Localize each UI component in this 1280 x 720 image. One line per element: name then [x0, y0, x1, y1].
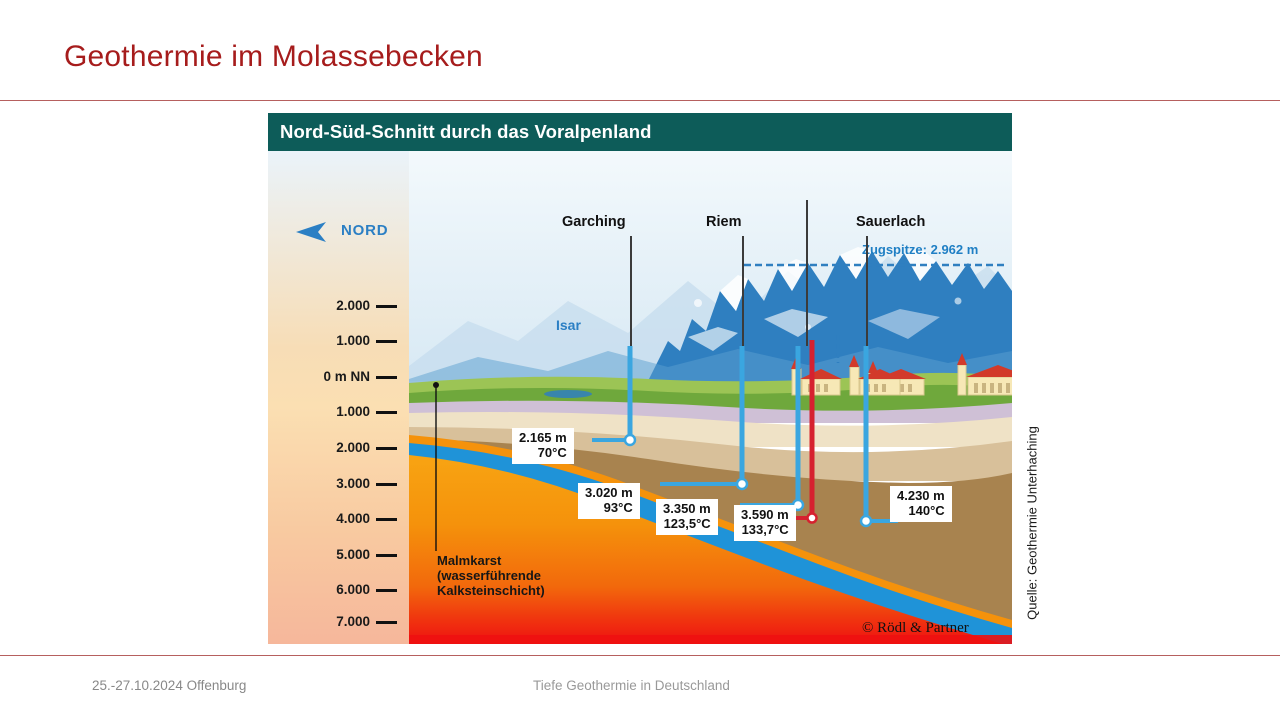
footer-divider	[0, 655, 1280, 656]
copyright-notice: © Rödl & Partner	[862, 620, 969, 637]
scale-label-7000: 7.000	[296, 614, 370, 629]
callout-depth-garching: 2.165 m	[519, 431, 567, 446]
scale-dash-9	[376, 621, 397, 624]
scale-label-4000: 4.000	[296, 511, 370, 526]
scale-dash-5	[376, 483, 397, 486]
city-tick-unterhaching	[806, 200, 808, 346]
city-label-sauerlach: Sauerlach	[856, 214, 925, 230]
callout-depth-unterhaching-injection: 3.350 m	[663, 502, 711, 517]
callout-depth-riem: 3.020 m	[585, 486, 633, 501]
scale-label-5000: 5.000	[296, 547, 370, 562]
city-tick-garching	[630, 236, 632, 346]
callout-unterhaching-production: 3.590 m 133,7°C	[734, 505, 796, 541]
compass-arrow-icon	[296, 222, 336, 242]
callout-temp-unterhaching-production: 133,7°C	[741, 523, 789, 538]
compass-label: NORD	[341, 222, 388, 239]
callout-temp-sauerlach: 140°C	[897, 504, 945, 519]
footer-date-location: 25.-27.10.2024 Offenburg	[92, 678, 246, 693]
scale-dash-2	[376, 376, 397, 379]
slide: Geothermie im Molassebecken 25.-27.10.20…	[0, 0, 1280, 720]
callout-sauerlach: 4.230 m 140°C	[890, 486, 952, 522]
scale-dash-6	[376, 518, 397, 521]
footer-topic: Tiefe Geothermie in Deutschland	[533, 678, 730, 693]
scale-label-1000-above: 1.000	[296, 333, 370, 348]
callout-riem: 3.020 m 93°C	[578, 483, 640, 519]
callout-temp-unterhaching-injection: 123,5°C	[663, 517, 711, 532]
callout-depth-unterhaching-production: 3.590 m	[741, 508, 789, 523]
city-tick-sauerlach	[866, 236, 868, 346]
building-sauerlach	[849, 355, 902, 395]
scale-label-2000: 2.000	[296, 440, 370, 455]
source-caption-text: Quelle: Geothermie Unterhaching	[1025, 426, 1040, 620]
scale-dash-4	[376, 447, 397, 450]
figure-title: Nord-Süd-Schnitt durch das Voralpenland	[280, 121, 652, 143]
city-label-garching: Garching	[562, 214, 626, 230]
city-label-riem: Riem	[706, 214, 741, 230]
callout-unterhaching-injection: 3.350 m 123,5°C	[656, 499, 718, 535]
page-title: Geothermie im Molassebecken	[64, 40, 483, 74]
callout-temp-garching: 70°C	[519, 446, 567, 461]
scale-dash-0	[376, 305, 397, 308]
scale-dash-7	[376, 554, 397, 557]
scale-label-sea-level: 0 m NN	[296, 369, 370, 384]
callout-garching: 2.165 m 70°C	[512, 428, 574, 464]
zugspitze-label: Zugspitze: 2.962 m	[862, 242, 978, 257]
title-divider	[0, 100, 1280, 101]
scale-dash-8	[376, 589, 397, 592]
malmkarst-annotation: Malmkarst (wasserführende Kalksteinschic…	[437, 554, 545, 598]
city-tick-riem	[742, 236, 744, 346]
scale-label-1000: 1.000	[296, 404, 370, 419]
malmkarst-line2: (wasserführende	[437, 569, 545, 584]
source-caption: Quelle: Geothermie Unterhaching	[1022, 398, 1042, 648]
malmkarst-line1: Malmkarst	[437, 554, 545, 569]
scale-label-6000: 6.000	[296, 582, 370, 597]
malmkarst-line3: Kalksteinschicht)	[437, 584, 545, 599]
scale-label-3000: 3.000	[296, 476, 370, 491]
callout-temp-riem: 93°C	[585, 501, 633, 516]
scale-label-2000-above: 2.000	[296, 298, 370, 313]
callout-depth-sauerlach: 4.230 m	[897, 489, 945, 504]
scale-dash-1	[376, 340, 397, 343]
building-unterhaching	[791, 357, 842, 395]
isar-label: Isar	[556, 317, 581, 333]
scale-dash-3	[376, 411, 397, 414]
